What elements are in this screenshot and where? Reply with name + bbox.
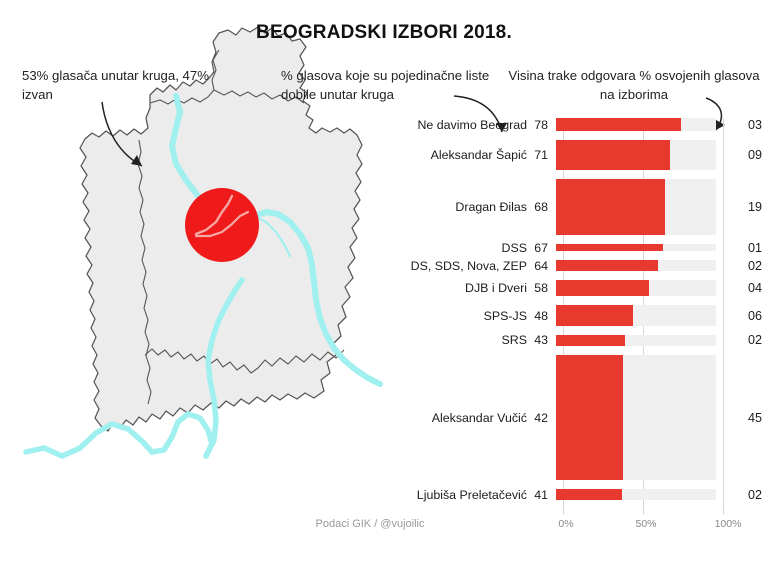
bar-fill[interactable] bbox=[556, 335, 625, 346]
bar-row-inside-circle-pct: 78 bbox=[534, 118, 556, 132]
bar-row-result-pct: 09 bbox=[716, 148, 762, 162]
bar-rows: Ne davimo Beograd7803Aleksandar Šapić710… bbox=[386, 118, 768, 500]
infographic-canvas: BEOGRADSKI IZBORI 2018. 53% glasača unut… bbox=[0, 0, 768, 568]
bar-row-inside-circle-pct: 71 bbox=[534, 148, 556, 162]
bar-track bbox=[556, 260, 716, 271]
bar-row-result-pct: 45 bbox=[716, 411, 762, 425]
annotation-circle-share: 53% glasača unutar kruga, 47% izvan bbox=[22, 66, 212, 104]
bar-fill[interactable] bbox=[556, 244, 663, 252]
bar-row-result-pct: 06 bbox=[716, 309, 762, 323]
axis-tick-100: 100% bbox=[715, 518, 742, 530]
axis-tick-0: 0% bbox=[558, 518, 573, 530]
bar-row-label: DS, SDS, Nova, ZEP bbox=[386, 259, 534, 273]
annotation-inside-circle-pct: % glasova koje su pojedinačne liste dobi… bbox=[281, 66, 525, 104]
bar-row-result-pct: 19 bbox=[716, 200, 762, 214]
axis-tick-50: 50% bbox=[635, 518, 656, 530]
tickmark-100 bbox=[723, 508, 724, 514]
bar-row-inside-circle-pct: 68 bbox=[534, 200, 556, 214]
bar-fill[interactable] bbox=[556, 179, 665, 235]
tickmark-50 bbox=[643, 508, 644, 514]
bar-row-inside-circle-pct: 58 bbox=[534, 281, 556, 295]
bar-track bbox=[556, 280, 716, 296]
bar-track bbox=[556, 140, 716, 169]
bar-chart: Ne davimo Beograd7803Aleksandar Šapić710… bbox=[386, 118, 768, 518]
bar-track bbox=[556, 355, 716, 481]
bar-row-label: Ljubiša Preletačević bbox=[386, 488, 534, 502]
table-row[interactable]: Aleksandar Šapić7109 bbox=[386, 146, 768, 164]
bar-track bbox=[556, 244, 716, 252]
bar-track bbox=[556, 305, 716, 326]
bar-fill[interactable] bbox=[556, 140, 670, 169]
bar-row-result-pct: 02 bbox=[716, 333, 762, 347]
table-row[interactable]: Ne davimo Beograd7803 bbox=[386, 116, 768, 134]
bar-track bbox=[556, 335, 716, 346]
bar-row-label: SPS-JS bbox=[386, 309, 534, 323]
bar-row-inside-circle-pct: 42 bbox=[534, 411, 556, 425]
bar-row-label: Aleksandar Šapić bbox=[386, 148, 534, 162]
table-row[interactable]: SRS4302 bbox=[386, 331, 768, 349]
bar-row-result-pct: 01 bbox=[716, 241, 762, 255]
bar-row-result-pct: 02 bbox=[716, 259, 762, 273]
bar-fill[interactable] bbox=[556, 305, 633, 326]
bar-row-inside-circle-pct: 41 bbox=[534, 488, 556, 502]
bar-row-result-pct: 02 bbox=[716, 488, 762, 502]
table-row[interactable]: SPS-JS4806 bbox=[386, 307, 768, 325]
bar-row-inside-circle-pct: 64 bbox=[534, 259, 556, 273]
source-credit: Podaci GIK / @vujoilic bbox=[230, 518, 510, 530]
bar-row-label: Dragan Đilas bbox=[386, 200, 534, 214]
bar-fill[interactable] bbox=[556, 260, 658, 271]
bar-row-label: Ne davimo Beograd bbox=[386, 118, 534, 132]
bar-fill[interactable] bbox=[556, 118, 681, 131]
bar-fill[interactable] bbox=[556, 489, 622, 500]
table-row[interactable]: Ljubiša Preletačević4102 bbox=[386, 486, 768, 504]
page-title: BEOGRADSKI IZBORI 2018. bbox=[0, 22, 768, 44]
tickmark-0 bbox=[563, 508, 564, 514]
bar-track bbox=[556, 118, 716, 131]
annotation-bar-height: Visina trake odgovara % osvojenih glasov… bbox=[508, 66, 760, 104]
bar-fill[interactable] bbox=[556, 280, 649, 296]
bar-row-label: DSS bbox=[386, 241, 534, 255]
bar-track bbox=[556, 489, 716, 500]
map-voter-circle bbox=[185, 188, 259, 262]
bar-row-label: SRS bbox=[386, 333, 534, 347]
bar-row-inside-circle-pct: 48 bbox=[534, 309, 556, 323]
bar-row-label: DJB i Dveri bbox=[386, 281, 534, 295]
bar-row-result-pct: 04 bbox=[716, 281, 762, 295]
bar-row-inside-circle-pct: 67 bbox=[534, 241, 556, 255]
bar-row-inside-circle-pct: 43 bbox=[534, 333, 556, 347]
bar-row-label: Aleksandar Vučić bbox=[386, 411, 534, 425]
bar-row-result-pct: 03 bbox=[716, 118, 762, 132]
table-row[interactable]: Dragan Đilas6819 bbox=[386, 198, 768, 216]
bar-track bbox=[556, 179, 716, 235]
table-row[interactable]: DS, SDS, Nova, ZEP6402 bbox=[386, 257, 768, 275]
table-row[interactable]: Aleksandar Vučić4245 bbox=[386, 409, 768, 427]
bar-fill[interactable] bbox=[556, 355, 623, 481]
table-row[interactable]: DJB i Dveri5804 bbox=[386, 279, 768, 297]
table-row[interactable]: DSS6701 bbox=[386, 239, 768, 257]
